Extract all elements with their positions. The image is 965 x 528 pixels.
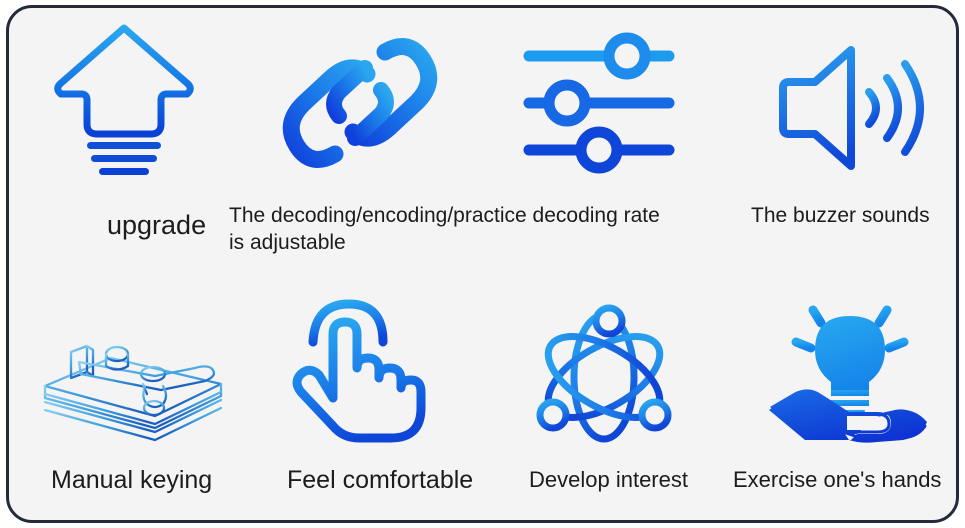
sliders-icon — [521, 34, 677, 172]
atom-icon — [527, 304, 681, 450]
feature-label-buzzer: The buzzer sounds — [751, 202, 941, 229]
feature-card: upgrade The decoding/encoding/practice d… — [6, 5, 959, 523]
upgrade-arrow-icon — [53, 22, 195, 174]
feature-label-exercise-hands: Exercise one's hands — [733, 466, 941, 495]
feature-label-develop-interest: Develop interest — [529, 466, 688, 495]
speaker-sound-icon — [767, 40, 931, 176]
feature-label-decoding-rate: The decoding/encoding/practice decoding … — [229, 202, 679, 257]
tap-hand-icon — [287, 294, 431, 450]
telegraph-key-icon — [35, 324, 243, 448]
feature-label-upgrade: upgrade — [107, 208, 206, 243]
feature-grid: upgrade The decoding/encoding/practice d… — [9, 8, 956, 520]
chain-link-icon — [277, 30, 443, 176]
feature-label-feel-comfortable: Feel comfortable — [287, 464, 473, 497]
lightbulb-in-hand-icon — [765, 290, 931, 444]
feature-label-manual-keying: Manual keying — [51, 464, 212, 497]
